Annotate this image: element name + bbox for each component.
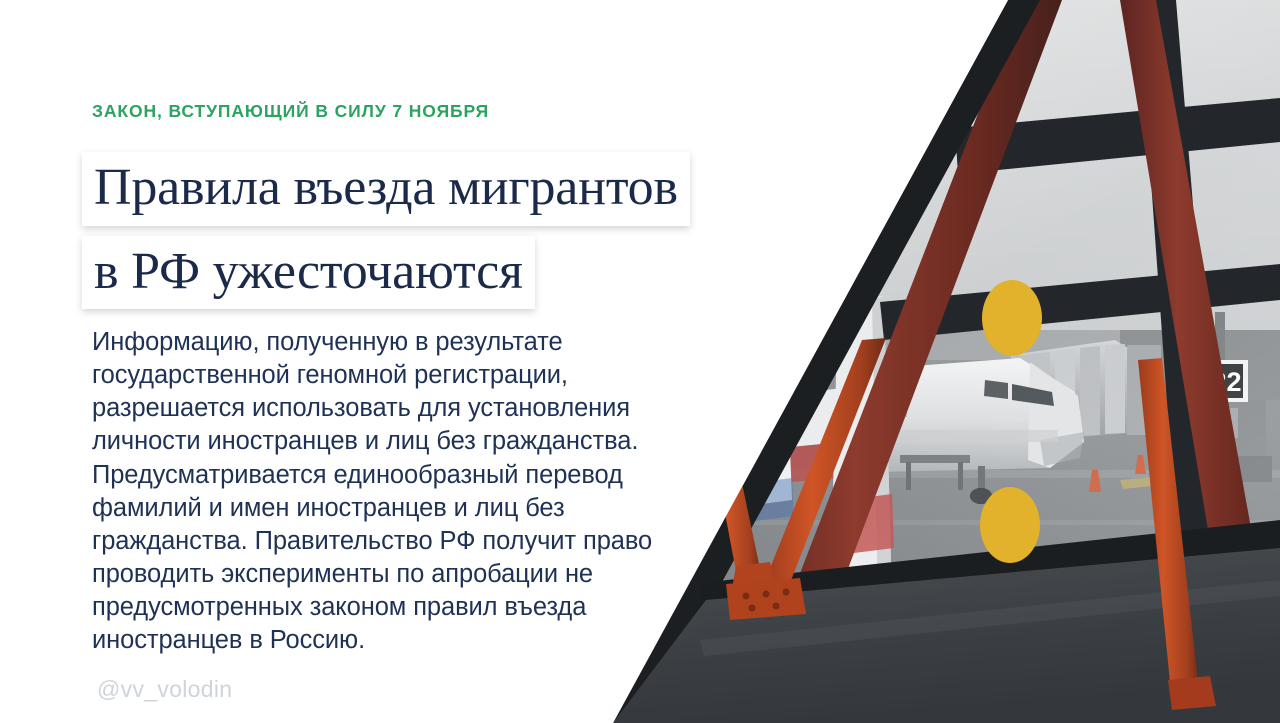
account-handle: @vv_volodin bbox=[97, 676, 232, 703]
headline-line-1: Правила въезда мигрантов bbox=[82, 152, 690, 226]
body-paragraph: Информацию, полученную в результате госу… bbox=[92, 326, 722, 657]
kicker-label: ЗАКОН, ВСТУПАЮЩИЙ В СИЛУ 7 НОЯБРЯ bbox=[92, 101, 489, 122]
headline-block: Правила въезда мигрантов в РФ ужесточают… bbox=[82, 152, 982, 319]
headline-line-2: в РФ ужесточаются bbox=[82, 236, 535, 310]
slide-root: лот bbox=[0, 0, 1280, 723]
content-layer: ЗАКОН, ВСТУПАЮЩИЙ В СИЛУ 7 НОЯБРЯ Правил… bbox=[0, 0, 1280, 723]
